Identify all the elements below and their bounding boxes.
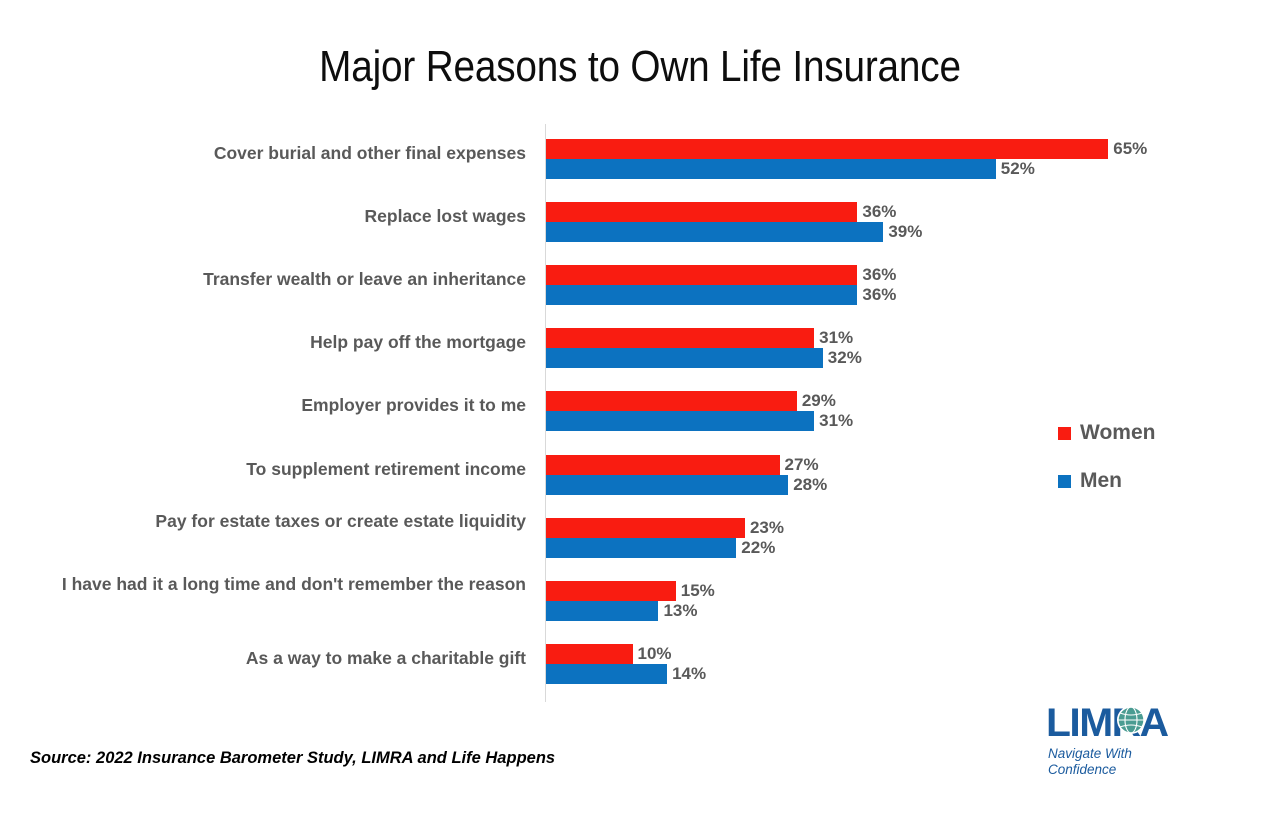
bar-row-women[interactable]: 10% [546, 644, 706, 664]
bar-men[interactable] [546, 285, 857, 305]
bar-women[interactable] [546, 328, 814, 348]
page-title: Major Reasons to Own Life Insurance [77, 42, 1203, 92]
plot-area: Cover burial and other final expenses65%… [0, 124, 1280, 710]
bar-row-women[interactable]: 15% [546, 581, 715, 601]
category-label: Cover burial and other final expenses [6, 143, 526, 164]
limra-logo: LIMRA Navigate With Confidence [1046, 703, 1176, 781]
bar-men[interactable] [546, 538, 736, 558]
legend-label-women: Women [1080, 421, 1155, 445]
bar-value-label: 28% [788, 475, 827, 495]
bar-women[interactable] [546, 518, 745, 538]
bar-value-label: 10% [633, 644, 672, 664]
bar-row-men[interactable]: 31% [546, 411, 853, 431]
bar-pair: 23%22% [546, 518, 784, 558]
bar-row-men[interactable]: 32% [546, 348, 862, 368]
bar-row-women[interactable]: 65% [546, 139, 1147, 159]
globe-icon [1116, 705, 1146, 735]
bar-value-label: 65% [1108, 139, 1147, 159]
bar-value-label: 36% [857, 202, 896, 222]
bar-value-label: 36% [857, 265, 896, 285]
bar-row-men[interactable]: 28% [546, 475, 827, 495]
bar-row-women[interactable]: 27% [546, 455, 827, 475]
bar-women[interactable] [546, 391, 797, 411]
bar-pair: 15%13% [546, 581, 715, 621]
bar-group: As a way to make a charitable gift10%14% [0, 633, 1280, 697]
bar-value-label: 32% [823, 348, 862, 368]
bar-group: Cover burial and other final expenses65%… [0, 128, 1280, 192]
bar-women[interactable] [546, 139, 1108, 159]
bar-row-men[interactable]: 52% [546, 159, 1147, 179]
bar-women[interactable] [546, 265, 857, 285]
bar-group: I have had it a long time and don't reme… [0, 570, 1280, 634]
category-label: Employer provides it to me [6, 395, 526, 416]
bar-pair: 65%52% [546, 139, 1147, 179]
bar-value-label: 23% [745, 518, 784, 538]
bar-women[interactable] [546, 455, 780, 475]
bar-men[interactable] [546, 601, 658, 621]
bar-group: Help pay off the mortgage31%32% [0, 317, 1280, 381]
bar-row-women[interactable]: 23% [546, 518, 784, 538]
legend-item-women[interactable]: Women [1058, 418, 1155, 448]
limra-wordmark: LIMRA [1046, 703, 1176, 743]
bar-value-label: 36% [857, 285, 896, 305]
bar-value-label: 14% [667, 664, 706, 684]
bar-group: Pay for estate taxes or create estate li… [0, 507, 1280, 571]
bar-row-women[interactable]: 31% [546, 328, 862, 348]
category-label: Pay for estate taxes or create estate li… [6, 511, 526, 532]
limra-tagline-line1: Navigate With [1048, 746, 1132, 762]
chart-slide: Major Reasons to Own Life Insurance Cove… [0, 0, 1280, 816]
legend-label-men: Men [1080, 469, 1122, 493]
bar-row-women[interactable]: 36% [546, 265, 896, 285]
limra-wordmark-text: LIMRA [1046, 703, 1168, 743]
bar-value-label: 31% [814, 411, 853, 431]
bar-value-label: 27% [780, 455, 819, 475]
legend-item-men[interactable]: Men [1058, 466, 1155, 496]
bar-pair: 27%28% [546, 455, 827, 495]
category-label: Transfer wealth or leave an inheritance [6, 269, 526, 290]
limra-tagline-line2: Confidence [1048, 762, 1132, 778]
bar-men[interactable] [546, 222, 883, 242]
bar-pair: 10%14% [546, 644, 706, 684]
bar-value-label: 52% [996, 159, 1035, 179]
bar-value-label: 15% [676, 581, 715, 601]
bar-row-men[interactable]: 39% [546, 222, 922, 242]
source-note: Source: 2022 Insurance Barometer Study, … [30, 749, 555, 768]
bar-men[interactable] [546, 411, 814, 431]
bar-women[interactable] [546, 644, 633, 664]
legend-swatch-men-icon [1058, 475, 1071, 488]
bar-row-men[interactable]: 14% [546, 664, 706, 684]
bar-value-label: 39% [883, 222, 922, 242]
limra-tagline: Navigate With Confidence [1048, 746, 1132, 778]
legend-swatch-women-icon [1058, 427, 1071, 440]
bar-pair: 31%32% [546, 328, 862, 368]
bar-men[interactable] [546, 159, 996, 179]
bar-men[interactable] [546, 664, 667, 684]
bar-pair: 36%36% [546, 265, 896, 305]
bar-row-women[interactable]: 36% [546, 202, 922, 222]
bar-group: Replace lost wages36%39% [0, 191, 1280, 255]
category-label: Replace lost wages [6, 206, 526, 227]
bar-row-men[interactable]: 13% [546, 601, 715, 621]
bar-value-label: 31% [814, 328, 853, 348]
chart-legend: Women Men [1058, 418, 1155, 514]
category-label: As a way to make a charitable gift [6, 648, 526, 669]
bar-value-label: 29% [797, 391, 836, 411]
bar-men[interactable] [546, 348, 823, 368]
bar-women[interactable] [546, 581, 676, 601]
bar-men[interactable] [546, 475, 788, 495]
bar-group: Transfer wealth or leave an inheritance3… [0, 254, 1280, 318]
bar-row-women[interactable]: 29% [546, 391, 853, 411]
category-label: I have had it a long time and don't reme… [6, 574, 526, 595]
bar-value-label: 13% [658, 601, 697, 621]
category-label: Help pay off the mortgage [6, 332, 526, 353]
category-label: To supplement retirement income [6, 459, 526, 480]
bar-row-men[interactable]: 36% [546, 285, 896, 305]
bar-women[interactable] [546, 202, 857, 222]
bar-pair: 36%39% [546, 202, 922, 242]
bar-pair: 29%31% [546, 391, 853, 431]
bar-row-men[interactable]: 22% [546, 538, 784, 558]
bar-value-label: 22% [736, 538, 775, 558]
